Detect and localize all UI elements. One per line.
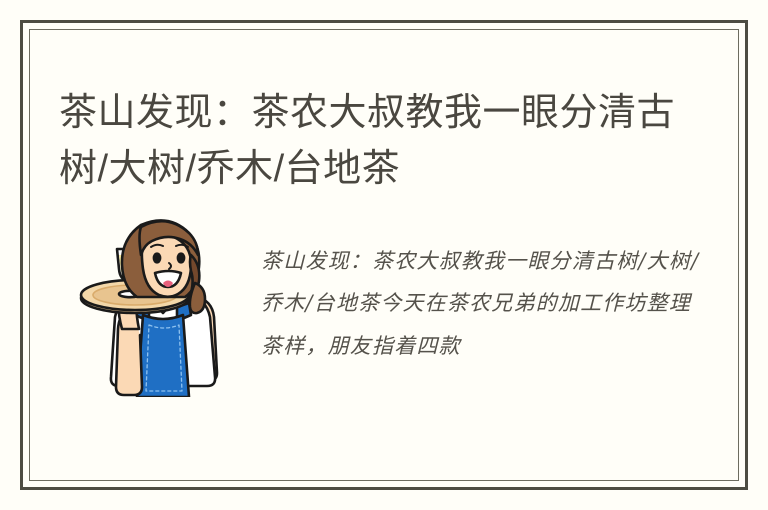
waitress-with-tray-icon	[73, 211, 233, 397]
page-title: 茶山发现：茶农大叔教我一眼分清古树/大树/乔木/台地茶	[59, 86, 679, 196]
article-excerpt: 茶山发现：茶农大叔教我一眼分清古树/大树/乔木/台地茶今天在茶农兄弟的加工作坊整…	[261, 240, 701, 367]
article-content-row: 茶山发现：茶农大叔教我一眼分清古树/大树/乔木/台地茶今天在茶农兄弟的加工作坊整…	[59, 207, 709, 417]
article-card-frame: 茶山发现：茶农大叔教我一眼分清古树/大树/乔木/台地茶	[20, 20, 748, 490]
card-body: 茶山发现：茶农大叔教我一眼分清古树/大树/乔木/台地茶	[23, 23, 745, 487]
